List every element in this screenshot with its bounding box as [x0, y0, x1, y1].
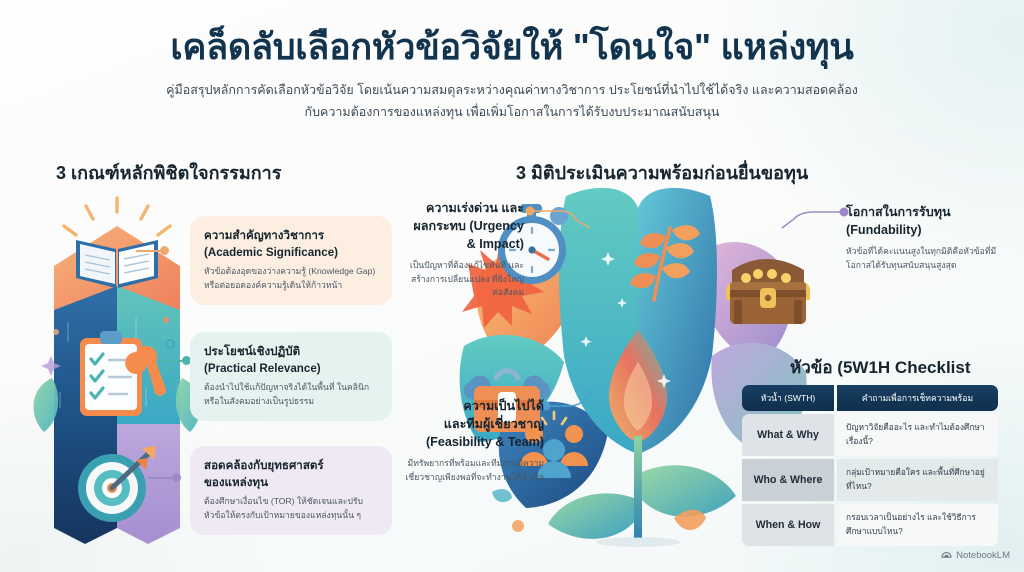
connector-fundability	[776, 206, 852, 234]
watermark: NotebookLM	[941, 548, 1010, 562]
card-title: สอดคล้องกับยุทธศาสตร์ของแหล่งทุน	[204, 457, 379, 491]
page-subtitle: คู่มือสรุปหลักการคัดเลือกหัวข้อวิจัย โดย…	[162, 80, 862, 123]
table-header-row: หัวน้ำ (SWTH) คำถามเพื่อการเช็ทความพร้อม	[742, 385, 998, 411]
card-description: ต้องศึกษาเงื่อนไข (TOR) ให้ชัดเจนและปรับ…	[204, 495, 379, 523]
criteria-card-funder-strategy[interactable]: สอดคล้องกับยุทธศาสตร์ของแหล่งทุน ต้องศึก…	[190, 446, 392, 535]
table-cell-key: Who & Where	[742, 459, 834, 501]
table-cell-key: When & How	[742, 504, 834, 546]
table-cell-value: กรอบเวลาเป็นอย่างไร และใช้วิธีการศึกษาแบ…	[837, 504, 998, 546]
table-row[interactable]: Who & Where กลุ่มเป้าหมายคือใคร และพื้นท…	[742, 459, 998, 501]
card-description: หัวข้อต้องอุดของว่างความรู้ (Knowledge G…	[204, 265, 379, 293]
table-row[interactable]: What & Why ปัญหาวิจัยคืออะไร และทำไมต้อง…	[742, 414, 998, 456]
connector-feasibility	[540, 382, 600, 412]
criteria-column-illustration	[24, 192, 210, 548]
card-description: ต้องนำไปใช้แก้ปัญหาจริงได้ในพื้นที่ ในคล…	[204, 381, 379, 409]
connector-line-strategy	[148, 477, 174, 479]
callout-description: เป็นปัญหาที่ต้องแก้ไขทันที และสร้างการเป…	[406, 259, 524, 301]
checklist-table-title: หัวข้อ (5W1H Checklist	[790, 354, 971, 381]
card-title: ความสำคัญทางวิชาการ(Academic Significanc…	[204, 227, 379, 261]
criteria-card-practical-relevance[interactable]: ประโยชน์เชิงปฏิบัติ(Practical Relevance)…	[190, 332, 392, 421]
infographic-poster: เคล็ดลับเลือกหัวข้อวิจัยให้ "โดนใจ" แหล่…	[0, 0, 1024, 572]
table-row[interactable]: When & How กรอบเวลาเป็นอย่างไร และใช้วิธ…	[742, 504, 998, 546]
criteria-card-academic-significance[interactable]: ความสำคัญทางวิชาการ(Academic Significanc…	[190, 216, 392, 305]
connector-urgency	[524, 206, 594, 232]
table-cell-key: What & Why	[742, 414, 834, 456]
card-title: ประโยชน์เชิงปฏิบัติ(Practical Relevance)	[204, 343, 379, 377]
notebooklm-logo-icon	[941, 548, 952, 562]
callout-urgency-impact[interactable]: ความเร่งด่วน และผลกระทบ (Urgency& Impact…	[406, 200, 524, 300]
connector-line-practical	[158, 360, 184, 362]
table-header-key: หัวน้ำ (SWTH)	[742, 385, 834, 411]
callout-description: มีทรัพยากรที่พร้อมและทีมงานมีความเชี่ยวช…	[398, 457, 544, 485]
checklist-table: หัวน้ำ (SWTH) คำถามเพื่อการเช็ทความพร้อม…	[742, 385, 998, 546]
page-title: เคล็ดลับเลือกหัวข้อวิจัยให้ "โดนใจ" แหล่…	[0, 26, 1024, 68]
connector-line-academic	[136, 250, 162, 252]
connector-dot-strategy	[172, 473, 181, 482]
connector-dot-academic	[160, 246, 169, 255]
treasure-chest-icon	[726, 259, 810, 324]
callout-title: ความเร่งด่วน และผลกระทบ (Urgency& Impact…	[406, 200, 524, 254]
callout-title: ความเป็นไปได้และทีมผู้เชี่ยวชาญ(Feasibil…	[398, 398, 544, 452]
table-cell-value: กลุ่มเป้าหมายคือใคร และพื้นที่ศึกษาอยู่ท…	[837, 459, 998, 501]
table-cell-value: ปัญหาวิจัยคืออะไร และทำไมต้องศึกษาเรื่อง…	[837, 414, 998, 456]
callout-title: โอกาสในการรับทุน(Fundability)	[846, 204, 1016, 240]
callout-feasibility-team[interactable]: ความเป็นไปได้และทีมผู้เชี่ยวชาญ(Feasibil…	[398, 398, 544, 484]
callout-description: หัวข้อที่ได้คะแนนสูงในทุกมิติคือหัวข้อที…	[846, 245, 1016, 273]
table-header-value: คำถามเพื่อการเช็ทความพร้อม	[837, 385, 998, 411]
section-heading-left: 3 เกณฑ์หลักพิชิตใจกรรมการ	[56, 158, 281, 187]
callout-fundability[interactable]: โอกาสในการรับทุน(Fundability) หัวข้อที่ไ…	[846, 204, 1016, 273]
section-heading-right: 3 มิติประเมินความพร้อมก่อนยื่นขอทุน	[516, 158, 808, 187]
watermark-label: NotebookLM	[956, 550, 1010, 561]
